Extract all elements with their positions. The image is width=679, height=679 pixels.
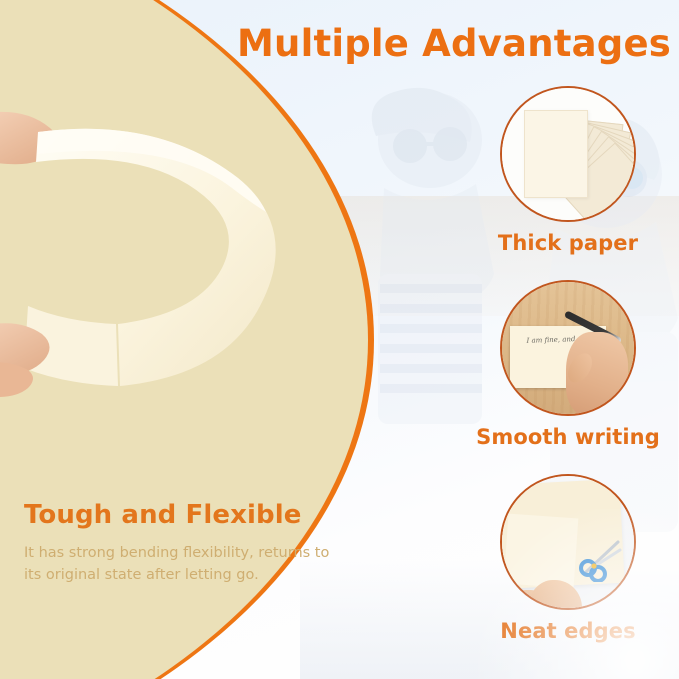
paper-stack-illustration (502, 88, 634, 220)
left-heading: Tough and Flexible (24, 500, 346, 530)
writing-illustration: I am fine, and (502, 282, 634, 414)
feature-thick-paper: Thick paper (458, 86, 678, 255)
feature-label-thick-paper: Thick paper (458, 231, 678, 255)
feature-smooth-writing: I am fine, and Smooth writing (458, 280, 678, 449)
left-description: It has strong bending flexibility, retur… (24, 542, 346, 587)
product-infographic: Multiple Advantages Tough and Flexible I… (0, 0, 679, 679)
left-copy-block: Tough and Flexible It has strong bending… (24, 500, 346, 587)
corner-highlight (459, 509, 679, 679)
feature-label-smooth-writing: Smooth writing (458, 425, 678, 449)
feature-image-thick-paper (500, 86, 636, 222)
bent-paper-photo (0, 96, 300, 446)
feature-image-smooth-writing: I am fine, and (500, 280, 636, 416)
page-title: Multiple Advantages (237, 22, 671, 65)
